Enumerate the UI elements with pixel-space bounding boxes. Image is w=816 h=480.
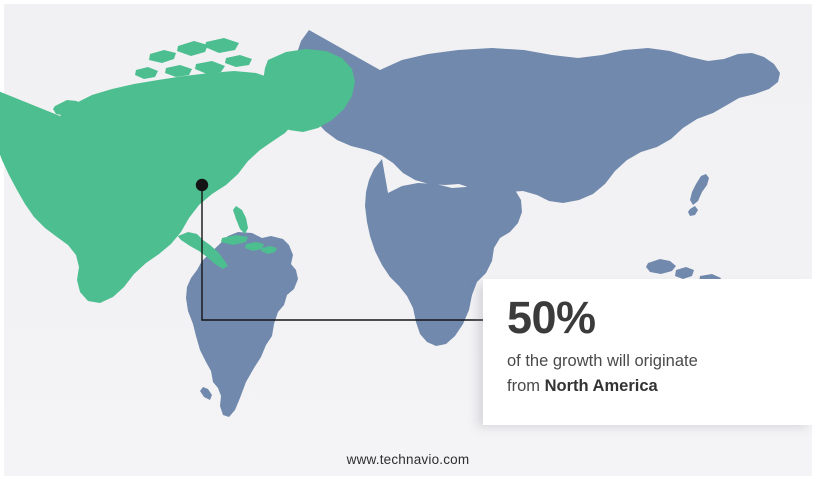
region-florida (233, 206, 248, 234)
infographic-canvas: 50% of the growth will originate from No… (0, 0, 816, 480)
callout-line-2-prefix: from (507, 377, 545, 395)
region-japan (688, 174, 709, 216)
footer-url[interactable]: www.technavio.com (0, 452, 816, 467)
callout-line-1: of the growth will originate (507, 349, 796, 374)
region-south-america (186, 232, 298, 417)
callout-content: 50% of the growth will originate from No… (483, 279, 816, 425)
region-name: North America (545, 377, 658, 395)
percent-value: 50% (507, 293, 796, 343)
map-regions-highlight (0, 38, 355, 303)
statistic-callout-card: 50% of the growth will originate from No… (483, 279, 816, 425)
callout-line-2: from North America (507, 374, 796, 399)
